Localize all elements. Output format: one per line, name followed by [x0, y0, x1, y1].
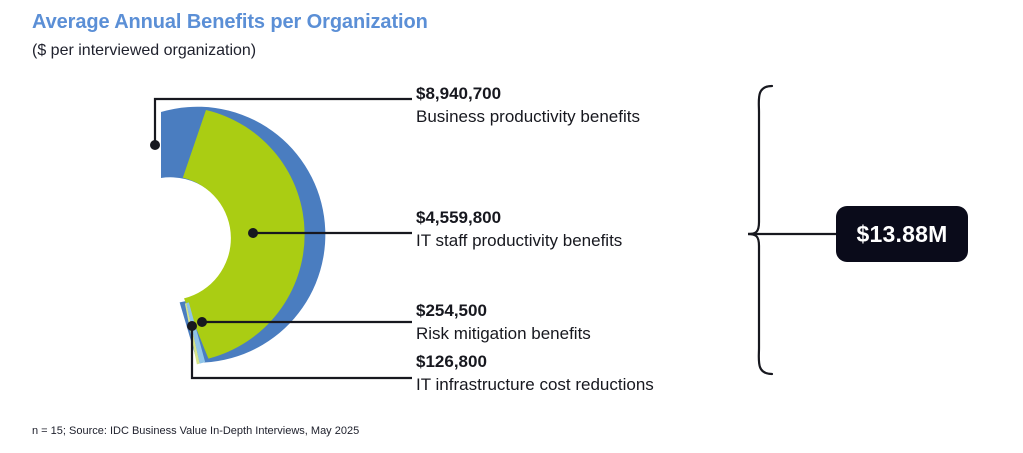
- callout-it-infrastructure: $126,800 IT infrastructure cost reductio…: [416, 351, 654, 397]
- callout-description: IT infrastructure cost reductions: [416, 374, 654, 397]
- callout-value: $4,559,800: [416, 207, 622, 230]
- callout-business-productivity: $8,940,700 Business productivity benefit…: [416, 83, 640, 129]
- total-value: $13.88M: [857, 221, 948, 248]
- total-badge: $13.88M: [836, 206, 968, 262]
- leader-dot-business-productivity: [150, 140, 160, 150]
- callout-description: IT staff productivity benefits: [416, 230, 622, 253]
- leader-dot-it-staff-productivity: [248, 228, 258, 238]
- callout-risk-mitigation: $254,500 Risk mitigation benefits: [416, 300, 591, 346]
- total-brace: [748, 86, 840, 374]
- donut-segments: [161, 107, 325, 365]
- callout-description: Risk mitigation benefits: [416, 323, 591, 346]
- chart-footnote: n = 15; Source: IDC Business Value In-De…: [32, 425, 359, 437]
- leader-dot-it-infrastructure: [187, 321, 197, 331]
- callout-it-staff-productivity: $4,559,800 IT staff productivity benefit…: [416, 207, 622, 253]
- leader-dot-risk-mitigation: [197, 317, 207, 327]
- callout-value: $126,800: [416, 351, 654, 374]
- callout-value: $254,500: [416, 300, 591, 323]
- callout-value: $8,940,700: [416, 83, 640, 106]
- callout-description: Business productivity benefits: [416, 106, 640, 129]
